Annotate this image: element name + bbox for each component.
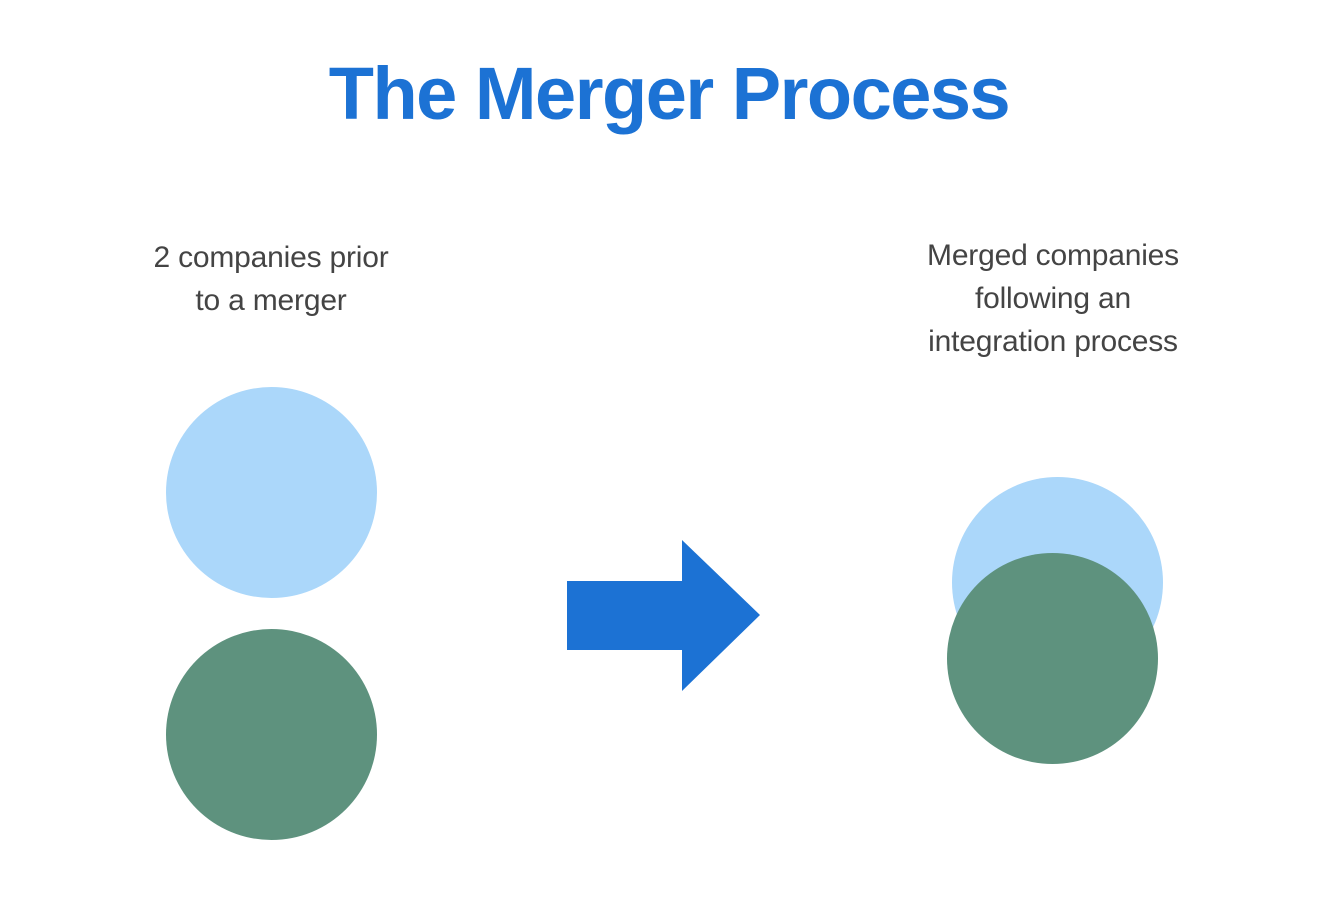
circle-company-b — [166, 629, 377, 840]
caption-before-merger: 2 companies prior to a merger — [71, 236, 471, 322]
caption-after-merger: Merged companies following an integratio… — [853, 234, 1253, 363]
caption-after-merger-line-1: Merged companies — [853, 234, 1253, 277]
diagram-canvas: The Merger Process 2 companies prior to … — [0, 0, 1338, 900]
caption-after-merger-line-3: integration process — [853, 320, 1253, 363]
circle-merged-company-b — [947, 553, 1158, 764]
caption-after-merger-line-2: following an — [853, 277, 1253, 320]
caption-before-merger-line-2: to a merger — [71, 279, 471, 322]
arrow-right-icon — [560, 533, 770, 699]
page-title: The Merger Process — [0, 52, 1338, 136]
circle-company-a — [166, 387, 377, 598]
caption-before-merger-line-1: 2 companies prior — [71, 236, 471, 279]
